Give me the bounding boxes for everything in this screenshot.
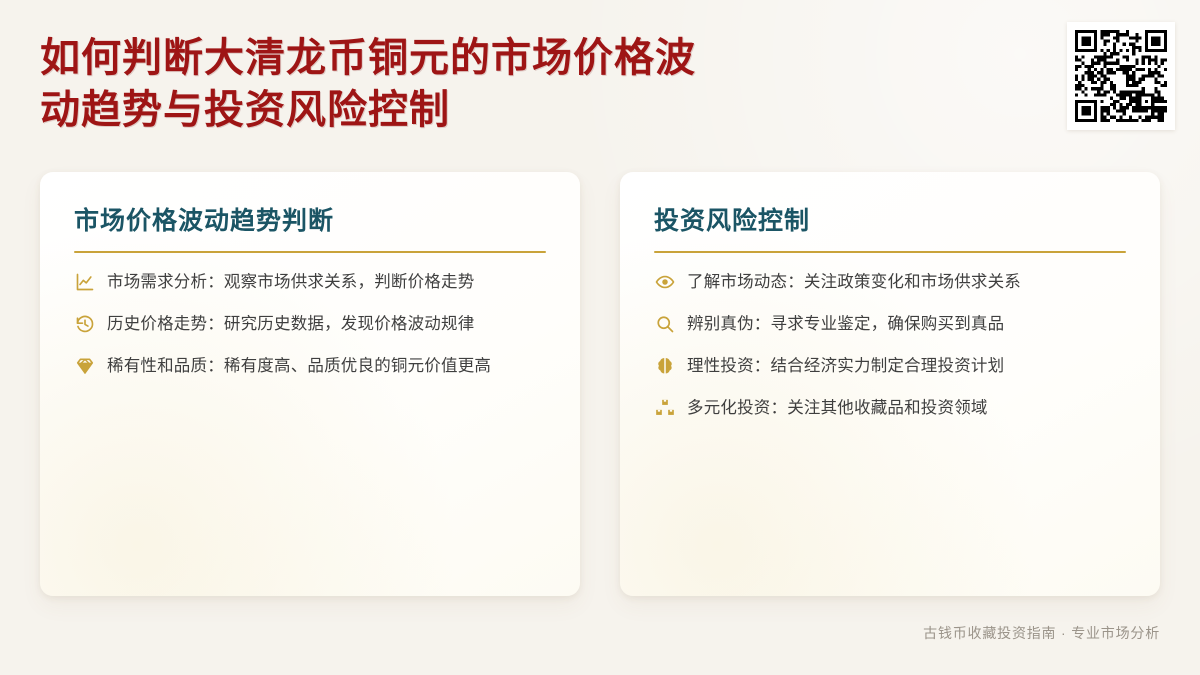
list-item-text: 多元化投资：关注其他收藏品和投资领域 (687, 396, 988, 419)
list-item: 了解市场动态：关注政策变化和市场供求关系 (654, 270, 1126, 293)
card-divider (74, 251, 546, 253)
list-item-text: 了解市场动态：关注政策变化和市场供求关系 (687, 270, 1021, 293)
card-title: 市场价格波动趋势判断 (74, 206, 546, 238)
cards-container: 市场价格波动趋势判断 市场需求分析：观察市场供求关系，判断价格走势 (40, 172, 1160, 596)
list-item-text: 理性投资：结合经济实力制定合理投资计划 (687, 354, 1004, 377)
page-title-line-2: 动趋势与投资风险控制 (40, 84, 840, 136)
history-clock-icon (74, 313, 96, 335)
gem-icon (74, 355, 96, 377)
card-risk-control: 投资风险控制 了解市场动态：关注政策变化和市场供求关系 (620, 172, 1160, 596)
list-item-text: 辨别真伪：寻求专业鉴定，确保购买到真品 (687, 312, 1004, 335)
slide-root: 如何判断大清龙币铜元的市场价格波 动趋势与投资风险控制 市场价格波动趋势判断 市… (0, 0, 1200, 675)
brain-icon (654, 355, 676, 377)
qr-code[interactable] (1067, 22, 1175, 130)
list-item: 稀有性和品质：稀有度高、品质优良的铜元价值更高 (74, 354, 546, 377)
list-item-text: 市场需求分析：观察市场供求关系，判断价格走势 (107, 270, 474, 293)
list-item: 市场需求分析：观察市场供求关系，判断价格走势 (74, 270, 546, 293)
boxes-icon (654, 397, 676, 419)
card-divider (654, 251, 1126, 253)
card-item-list: 市场需求分析：观察市场供求关系，判断价格走势 历史价格走势：研究历史数据，发现价… (74, 270, 546, 377)
card-item-list: 了解市场动态：关注政策变化和市场供求关系 辨别真伪：寻求专业鉴定，确保购买到真品 (654, 270, 1126, 419)
footer-caption: 古钱币收藏投资指南 · 专业市场分析 (923, 623, 1160, 643)
card-market-trend: 市场价格波动趋势判断 市场需求分析：观察市场供求关系，判断价格走势 (40, 172, 580, 596)
card-title: 投资风险控制 (654, 206, 1126, 238)
search-icon (654, 313, 676, 335)
list-item: 理性投资：结合经济实力制定合理投资计划 (654, 354, 1126, 377)
list-item: 辨别真伪：寻求专业鉴定，确保购买到真品 (654, 312, 1126, 335)
list-item-text: 稀有性和品质：稀有度高、品质优良的铜元价值更高 (107, 354, 491, 377)
list-item: 多元化投资：关注其他收藏品和投资领域 (654, 396, 1126, 419)
list-item: 历史价格走势：研究历史数据，发现价格波动规律 (74, 312, 546, 335)
list-item-text: 历史价格走势：研究历史数据，发现价格波动规律 (107, 312, 474, 335)
qr-code-image (1075, 30, 1167, 122)
eye-icon (654, 271, 676, 293)
page-title-line-1: 如何判断大清龙币铜元的市场价格波 (40, 32, 840, 84)
page-title: 如何判断大清龙币铜元的市场价格波 动趋势与投资风险控制 (40, 32, 840, 136)
line-chart-icon (74, 271, 96, 293)
